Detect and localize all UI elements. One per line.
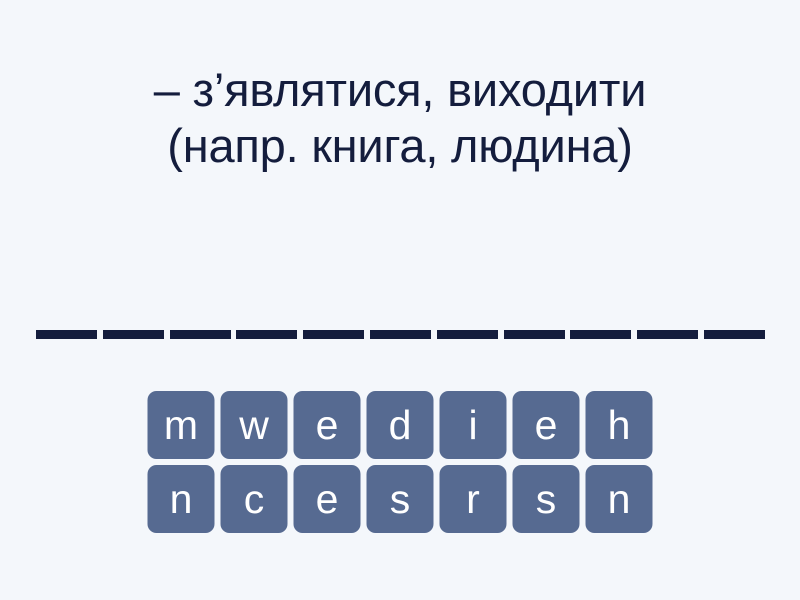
letter-tile[interactable]: c	[221, 465, 288, 533]
letter-tile[interactable]: e	[294, 465, 361, 533]
answer-blank[interactable]	[704, 330, 765, 339]
answer-blank[interactable]	[103, 330, 164, 339]
letter-tile[interactable]: m	[148, 391, 215, 459]
letter-tile[interactable]: r	[440, 465, 507, 533]
answer-blank[interactable]	[437, 330, 498, 339]
letter-tile[interactable]: i	[440, 391, 507, 459]
letter-bank-row-1: m w e d i e h	[148, 391, 653, 459]
letter-tile[interactable]: h	[586, 391, 653, 459]
answer-blank[interactable]	[570, 330, 631, 339]
answer-blanks	[36, 330, 765, 339]
clue-text: – з’являтися, виходити (напр. книга, люд…	[30, 62, 770, 175]
letter-bank-row-2: n c e s r s n	[148, 465, 653, 533]
letter-bank: m w e d i e h n c e s r s n	[148, 391, 653, 533]
answer-blank[interactable]	[303, 330, 364, 339]
puzzle-stage: – з’являтися, виходити (напр. книга, люд…	[0, 0, 800, 600]
letter-tile[interactable]: e	[513, 391, 580, 459]
answer-blank[interactable]	[236, 330, 297, 339]
answer-blank[interactable]	[36, 330, 97, 339]
answer-blank[interactable]	[370, 330, 431, 339]
letter-tile[interactable]: s	[367, 465, 434, 533]
letter-tile[interactable]: n	[586, 465, 653, 533]
letter-tile[interactable]: w	[221, 391, 288, 459]
letter-tile[interactable]: s	[513, 465, 580, 533]
answer-blank[interactable]	[170, 330, 231, 339]
letter-tile[interactable]: d	[367, 391, 434, 459]
answer-blank[interactable]	[504, 330, 565, 339]
answer-blank[interactable]	[637, 330, 698, 339]
letter-tile[interactable]: e	[294, 391, 361, 459]
letter-tile[interactable]: n	[148, 465, 215, 533]
